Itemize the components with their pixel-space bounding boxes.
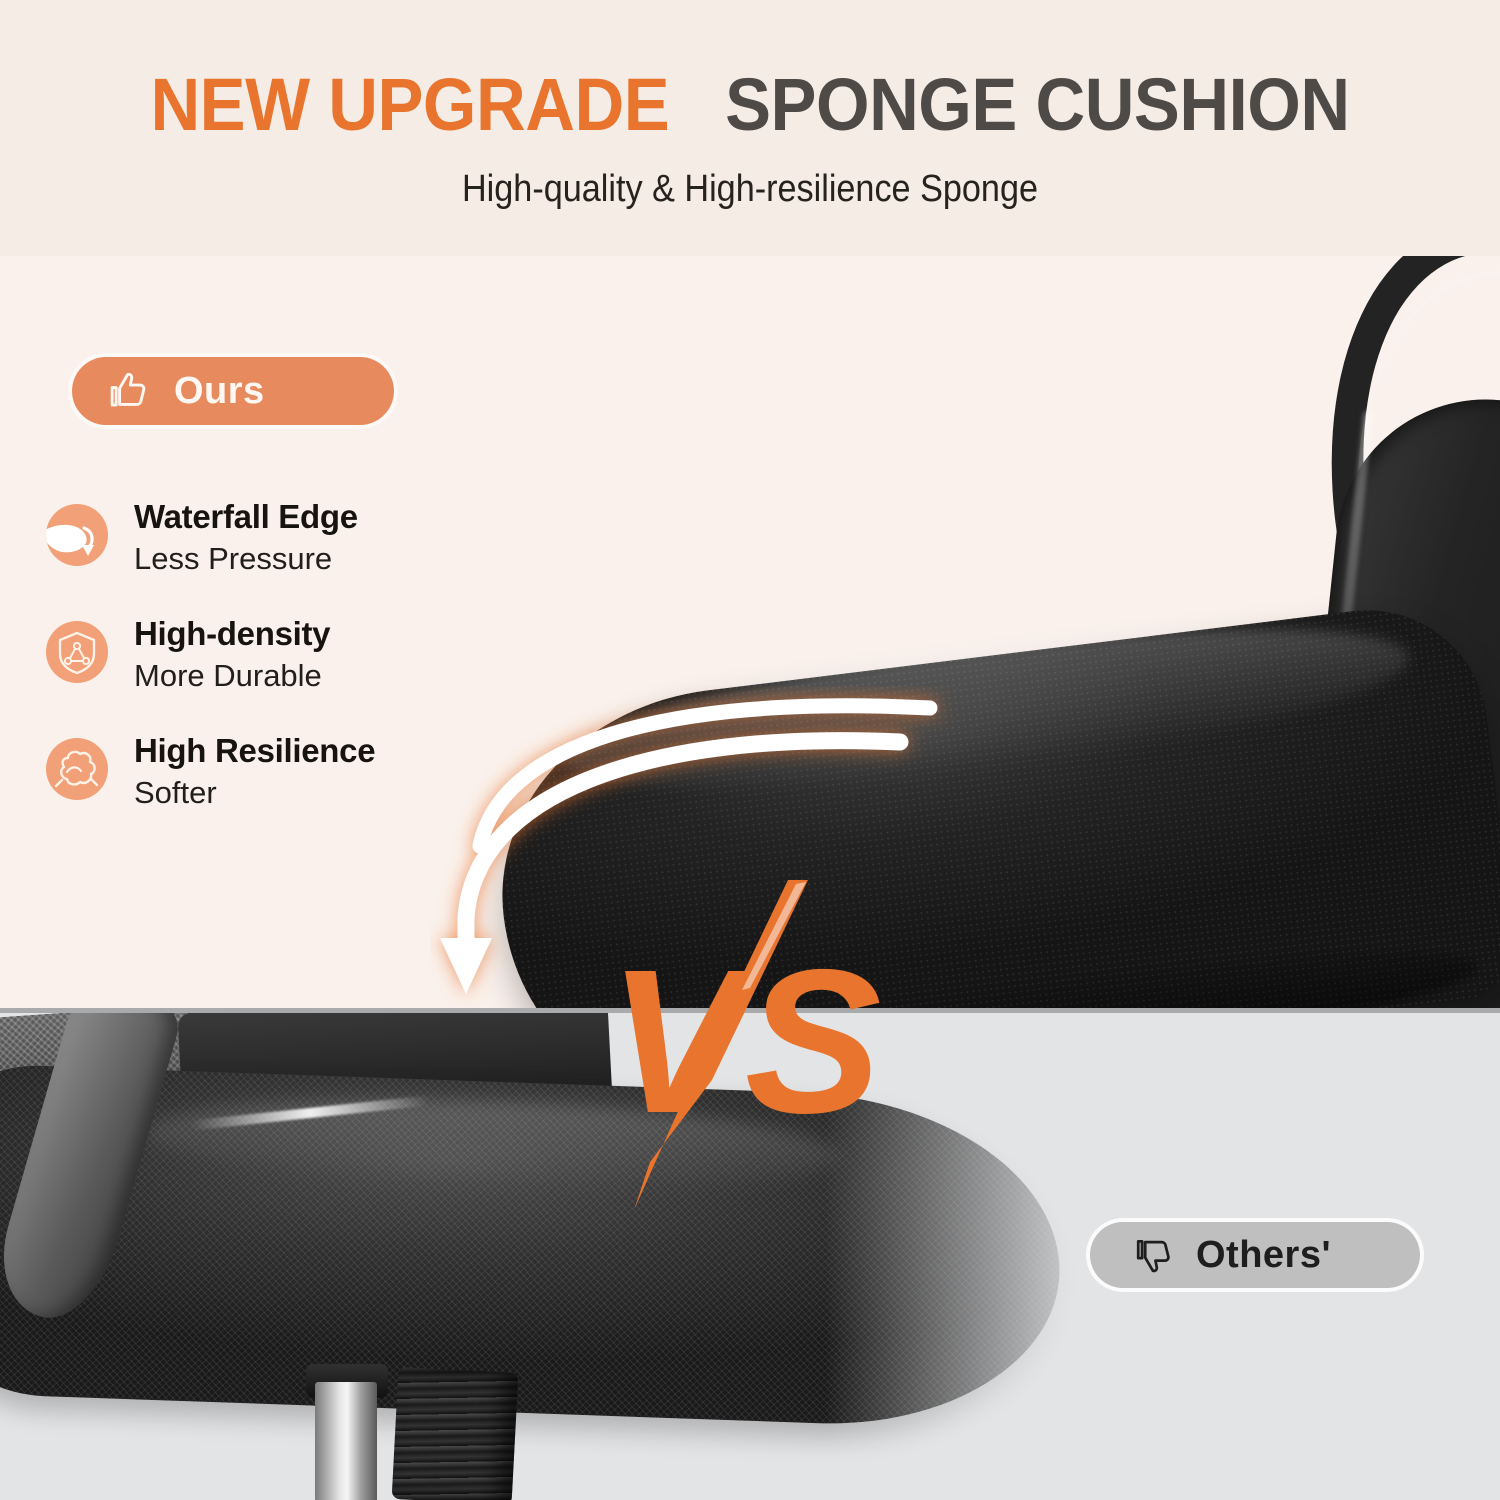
title-highlight: NEW UPGRADE: [150, 63, 669, 146]
sponge-cloud-icon: [46, 738, 108, 800]
page-title: NEW UPGRADE SPONGE CUSHION: [53, 68, 1448, 142]
feature-subtitle: Softer: [134, 774, 375, 811]
waterfall-edge-icon: [46, 504, 108, 566]
title-rest: SPONGE CUSHION: [725, 63, 1349, 146]
feature-title: High Resilience: [134, 732, 375, 770]
infographic-page: Ours Waterfall Edge Less Pressure: [0, 0, 1500, 1500]
feature-item: Waterfall Edge Less Pressure: [46, 498, 516, 577]
ours-badge-label: Ours: [174, 370, 265, 413]
feature-title: Waterfall Edge: [134, 498, 358, 536]
thumbs-down-icon: [1132, 1233, 1176, 1277]
feature-text: High-density More Durable: [134, 615, 330, 694]
page-subtitle: High-quality & High-resilience Sponge: [75, 168, 1425, 211]
feature-subtitle: More Durable: [134, 657, 330, 694]
shield-density-icon: [46, 621, 108, 683]
feature-title: High-density: [134, 615, 330, 653]
ours-badge[interactable]: Ours: [72, 357, 394, 425]
others-badge-label: Others': [1196, 1234, 1331, 1277]
feature-subtitle: Less Pressure: [134, 540, 358, 577]
vs-lettermark-icon: VS: [600, 880, 880, 1210]
feature-text: High Resilience Softer: [134, 732, 375, 811]
thumbs-up-icon: [106, 368, 152, 414]
feature-text: Waterfall Edge Less Pressure: [134, 498, 358, 577]
header-band: NEW UPGRADE SPONGE CUSHION High-quality …: [0, 0, 1500, 256]
feature-item: High-density More Durable: [46, 615, 516, 694]
vs-mark: VS: [600, 880, 880, 1210]
vs-text: VS: [608, 927, 880, 1156]
others-badge[interactable]: Others': [1090, 1222, 1420, 1288]
